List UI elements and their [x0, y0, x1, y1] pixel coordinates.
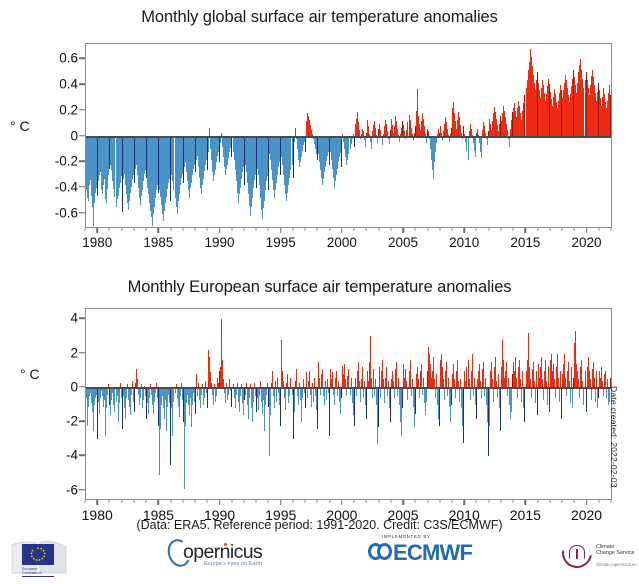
bar [561, 388, 562, 419]
x-tick-minor [537, 500, 538, 503]
bar [484, 388, 485, 397]
bar [289, 388, 290, 397]
x-tick-minor [292, 228, 293, 231]
y-tick-label: -0.4 [55, 179, 78, 194]
ecmwf-rings-icon [368, 543, 392, 560]
bar [382, 137, 383, 146]
x-tick-minor [329, 500, 330, 503]
x-tick-minor [244, 500, 245, 503]
bar [225, 388, 226, 403]
x-tick-minor [354, 228, 355, 231]
x-tick-mark [280, 228, 282, 233]
bar [536, 371, 537, 388]
x-tick-mark [402, 500, 404, 505]
x-tick-minor [292, 500, 293, 503]
bar [274, 388, 275, 409]
bar [228, 388, 229, 395]
bar [421, 364, 422, 388]
bar [195, 388, 196, 414]
x-tick-minor [549, 500, 550, 503]
bar [313, 388, 314, 402]
x-tick-minor [378, 228, 379, 231]
bar [311, 388, 312, 407]
bar [324, 388, 325, 405]
x-tick-minor [195, 500, 196, 503]
panel-global-anomalies: Monthly global surface air temperature a… [0, 0, 639, 262]
zero-baseline-global [86, 136, 611, 138]
bar [570, 388, 571, 403]
bar [605, 371, 606, 388]
x-tick-mark [158, 228, 160, 233]
copernicus-logo: opernicus Europe's eyes on Earth [168, 538, 264, 578]
bar [337, 388, 338, 397]
x-tick-minor [549, 228, 550, 231]
x-tick-minor [415, 500, 416, 503]
bar [149, 388, 150, 398]
x-tick-mark [341, 500, 343, 505]
figure-caption: (Data: ERA5. Reference period: 1991-2020… [0, 518, 639, 532]
bar [350, 388, 351, 395]
bar [509, 137, 510, 147]
bar [455, 388, 456, 398]
page-title-europe: Monthly European surface air temperature… [0, 278, 639, 297]
x-tick-label: 1990 [205, 235, 235, 250]
x-tick-minor [182, 228, 183, 231]
bar [287, 374, 288, 388]
x-tick-minor [170, 228, 171, 231]
bar [498, 374, 499, 388]
eu-logo-rule [22, 576, 54, 577]
x-tick-minor [366, 500, 367, 503]
bar [548, 367, 549, 388]
x-tick-minor [451, 228, 452, 231]
x-tick-label: 2000 [327, 235, 357, 250]
bar [329, 388, 330, 436]
plot-area-global [85, 43, 612, 228]
x-tick-minor [598, 228, 599, 231]
bar [379, 367, 380, 388]
bar [473, 388, 474, 397]
bar [598, 388, 599, 398]
bar [472, 354, 473, 388]
x-tick-minor [268, 228, 269, 231]
bar [549, 388, 550, 412]
bar [481, 388, 482, 398]
y-tick-label: 0.2 [59, 102, 78, 117]
bar [363, 388, 364, 398]
c3s-pin-icon [576, 549, 578, 559]
bar [341, 388, 342, 398]
bar [411, 388, 412, 397]
bar [360, 388, 361, 402]
bar [439, 388, 440, 426]
bar [603, 388, 604, 397]
x-tick-mark [463, 228, 465, 233]
plot-area-europe [85, 308, 612, 500]
bar [468, 137, 469, 160]
page-title-global: Monthly global surface air temperature a… [0, 8, 639, 27]
eu-logo-label: European Commission [22, 567, 42, 575]
bar [591, 388, 592, 400]
x-tick-mark [586, 228, 588, 233]
bar [134, 388, 135, 412]
implemented-by-label: IMPLEMENTED BY [382, 534, 431, 539]
bar [298, 388, 299, 405]
c3s-label: Climate Change Service [596, 544, 634, 557]
bar [296, 369, 297, 388]
x-tick-label: 2020 [571, 235, 601, 250]
bar [489, 388, 490, 426]
x-tick-minor [427, 228, 428, 231]
y-tick-label: -6 [66, 482, 78, 497]
x-tick-mark [586, 500, 588, 505]
bar [407, 388, 408, 400]
bar [302, 388, 303, 398]
x-tick-minor [207, 500, 208, 503]
x-tick-minor [439, 500, 440, 503]
x-tick-minor [85, 228, 86, 231]
x-tick-label: 1995 [266, 235, 296, 250]
x-tick-minor [231, 500, 232, 503]
x-tick-minor [317, 228, 318, 231]
bar [507, 388, 508, 397]
x-tick-minor [378, 500, 379, 503]
x-tick-minor [109, 500, 110, 503]
bar [143, 388, 144, 400]
bar [356, 388, 357, 397]
x-tick-minor [305, 500, 306, 503]
x-tick-minor [390, 500, 391, 503]
x-tick-mark [219, 500, 221, 505]
bar [463, 388, 464, 443]
x-tick-label: 1980 [82, 235, 112, 250]
x-tick-label: 2005 [388, 235, 418, 250]
bar [579, 388, 580, 398]
x-tick-mark [525, 228, 527, 233]
bar [372, 388, 373, 398]
bar [266, 388, 267, 395]
bar [566, 388, 567, 397]
bar [447, 388, 448, 397]
eu-flag-icon [22, 544, 54, 565]
bar [476, 388, 477, 419]
bar [213, 388, 214, 405]
bar [481, 137, 482, 159]
bar [522, 371, 523, 388]
zero-baseline-europe [86, 387, 611, 389]
x-tick-minor [537, 228, 538, 231]
bar [354, 388, 355, 426]
bar [131, 388, 132, 395]
x-tick-minor [500, 500, 501, 503]
x-tick-mark [280, 500, 282, 505]
y-tick-label: 2 [70, 345, 78, 360]
x-tick-minor [415, 228, 416, 231]
y-axis-labels-global: 0.60.40.20-0.2-0.4-0.6 [4, 43, 78, 228]
bar [373, 369, 374, 388]
bar [231, 388, 232, 407]
climate-change-service-logo: Climate Change Service climate.copernicu… [560, 536, 638, 580]
bar [560, 371, 561, 388]
bar [197, 388, 198, 397]
bar [390, 388, 391, 422]
c3s-line2: Change Service [596, 550, 634, 556]
x-tick-mark [219, 228, 221, 233]
x-tick-minor [85, 500, 86, 503]
bar [402, 388, 403, 409]
bar [216, 388, 217, 397]
x-tick-minor [256, 228, 257, 231]
bar [341, 137, 342, 168]
x-tick-minor [574, 228, 575, 231]
bar [317, 388, 318, 429]
x-tick-minor [451, 500, 452, 503]
c3s-line1: Climate [596, 544, 614, 550]
bar [380, 388, 381, 398]
european-commission-logo: European Commission [8, 536, 70, 580]
bar [595, 388, 596, 402]
bar [487, 137, 488, 146]
x-tick-minor [121, 228, 122, 231]
bar [309, 371, 310, 388]
bar [596, 371, 597, 388]
bar [365, 137, 366, 147]
bar [435, 388, 436, 398]
bar [524, 388, 525, 422]
bar [326, 388, 327, 400]
y-tick-label: -2 [66, 414, 78, 429]
x-tick-minor [574, 500, 575, 503]
panel-europe-anomalies: Monthly European surface air temperature… [0, 272, 639, 520]
bar [276, 388, 277, 402]
bar [459, 388, 460, 402]
copernicus-tagline: Europe's eyes on Earth [204, 561, 262, 567]
x-tick-minor [513, 228, 514, 231]
bar [511, 388, 512, 412]
x-tick-label: 1985 [143, 235, 173, 250]
bar [107, 388, 108, 395]
bar [521, 388, 522, 402]
bar [571, 367, 572, 388]
y-tick-label: -0.2 [55, 154, 78, 169]
bar [583, 388, 584, 405]
y-tick-label: 4 [70, 311, 78, 326]
x-tick-label: 2015 [510, 235, 540, 250]
x-tick-minor [231, 228, 232, 231]
x-tick-minor [500, 228, 501, 231]
bar [272, 371, 273, 388]
x-tick-mark [463, 500, 465, 505]
date-created-label: Date created: 2022-02-03 [609, 386, 619, 488]
bar [451, 388, 452, 405]
bar [537, 388, 538, 415]
y-tick-label: 0.4 [59, 77, 78, 92]
x-tick-minor [329, 228, 330, 231]
c3s-url-label: climate.copernicus.eu [596, 562, 637, 567]
bar [531, 388, 532, 398]
bar [426, 388, 427, 402]
x-tick-minor [562, 500, 563, 503]
y-axis-unit-europe: ° C [20, 366, 40, 382]
bar [559, 388, 560, 402]
x-tick-minor [354, 500, 355, 503]
bar [483, 362, 484, 388]
y-tick-label: 0.6 [59, 51, 78, 66]
bar [444, 388, 445, 400]
bar [387, 388, 388, 397]
x-tick-minor [390, 228, 391, 231]
bar [586, 388, 587, 412]
bar [410, 360, 411, 387]
bar [196, 374, 197, 388]
x-tick-mark [96, 500, 98, 505]
bar [240, 388, 241, 397]
bar [236, 388, 237, 395]
x-tick-minor [109, 228, 110, 231]
bar [547, 388, 548, 405]
x-tick-mark [158, 500, 160, 505]
bar [535, 388, 536, 403]
x-tick-minor [610, 228, 611, 231]
bar [543, 388, 544, 400]
x-tick-minor [513, 500, 514, 503]
bar [305, 388, 306, 409]
bar [415, 388, 416, 414]
bar [397, 388, 398, 397]
ecmwf-logo: IMPLEMENTED BY ECMWF [360, 534, 472, 574]
x-tick-minor [182, 500, 183, 503]
x-tick-minor [305, 228, 306, 231]
x-tick-mark [96, 228, 98, 233]
x-tick-minor [598, 500, 599, 503]
bar [320, 388, 321, 395]
x-tick-minor [244, 228, 245, 231]
x-tick-minor [121, 500, 122, 503]
bar [419, 388, 420, 398]
bar [201, 388, 202, 395]
bar [500, 388, 501, 431]
bar [475, 137, 476, 158]
x-tick-minor [207, 228, 208, 231]
figure-footer: (Data: ERA5. Reference period: 1991-2020… [0, 518, 639, 584]
bar [354, 137, 355, 147]
bar [305, 137, 306, 152]
bar [572, 388, 573, 409]
x-tick-minor [476, 228, 477, 231]
bar [374, 388, 375, 397]
bar [422, 388, 423, 395]
bar [334, 388, 335, 405]
bar [436, 374, 437, 388]
bar [253, 388, 254, 402]
x-tick-minor [439, 228, 440, 231]
bar [585, 371, 586, 388]
bar [606, 388, 607, 398]
bar [497, 388, 498, 398]
bar [362, 367, 363, 388]
x-tick-minor [256, 500, 257, 503]
bar [245, 388, 246, 395]
bar [259, 388, 260, 397]
bar [270, 388, 271, 415]
y-tick-label: 0 [70, 379, 78, 394]
x-tick-minor [133, 500, 134, 503]
x-tick-minor [562, 228, 563, 231]
eu-logo-line2: Commission [22, 571, 42, 575]
x-tick-minor [195, 228, 196, 231]
x-tick-mark [402, 228, 404, 233]
x-tick-minor [146, 228, 147, 231]
bar [293, 137, 294, 178]
x-tick-minor [476, 500, 477, 503]
bar [294, 388, 295, 412]
bar [322, 369, 323, 388]
bar [285, 388, 286, 410]
x-tick-mark [341, 228, 343, 233]
bar [140, 388, 141, 398]
climate-anomalies-figure: Monthly global surface air temperature a… [0, 0, 639, 584]
x-tick-minor [610, 500, 611, 503]
ecmwf-wordmark: ECMWF [393, 540, 472, 566]
x-tick-minor [488, 500, 489, 503]
bar [332, 372, 333, 387]
bar [119, 388, 120, 403]
bar [389, 137, 390, 145]
bar [249, 388, 250, 398]
bar [378, 388, 379, 427]
bar [371, 137, 372, 150]
x-tick-minor [488, 228, 489, 231]
bar [517, 388, 518, 398]
x-tick-minor [317, 500, 318, 503]
bar [204, 388, 205, 398]
x-tick-minor [170, 500, 171, 503]
bar [207, 388, 208, 409]
bar [280, 388, 281, 426]
bar [348, 369, 349, 388]
bar [336, 371, 337, 388]
bar [470, 388, 471, 400]
bar-series-europe [86, 309, 611, 499]
y-tick-label: 0 [70, 128, 78, 143]
y-axis-labels-europe: 420-2-4-6 [4, 308, 78, 500]
bar [386, 367, 387, 388]
bar [306, 372, 307, 387]
x-tick-minor [427, 500, 428, 503]
y-tick-label: -4 [66, 448, 78, 463]
bar [493, 388, 494, 402]
y-tick-label: -0.6 [55, 205, 78, 220]
bar [366, 388, 367, 419]
bar [307, 388, 308, 398]
x-tick-minor [268, 500, 269, 503]
x-tick-mark [525, 500, 527, 505]
x-tick-minor [146, 500, 147, 503]
bar [208, 137, 209, 152]
bar [126, 388, 127, 398]
bar [346, 388, 347, 397]
x-tick-label: 2010 [449, 235, 479, 250]
bar [555, 388, 556, 398]
bar [396, 362, 397, 388]
bar [446, 362, 447, 388]
x-tick-minor [133, 228, 134, 231]
x-tick-minor [366, 228, 367, 231]
bar [180, 388, 181, 397]
bar [394, 388, 395, 398]
bar [384, 388, 385, 403]
bar [506, 362, 507, 388]
